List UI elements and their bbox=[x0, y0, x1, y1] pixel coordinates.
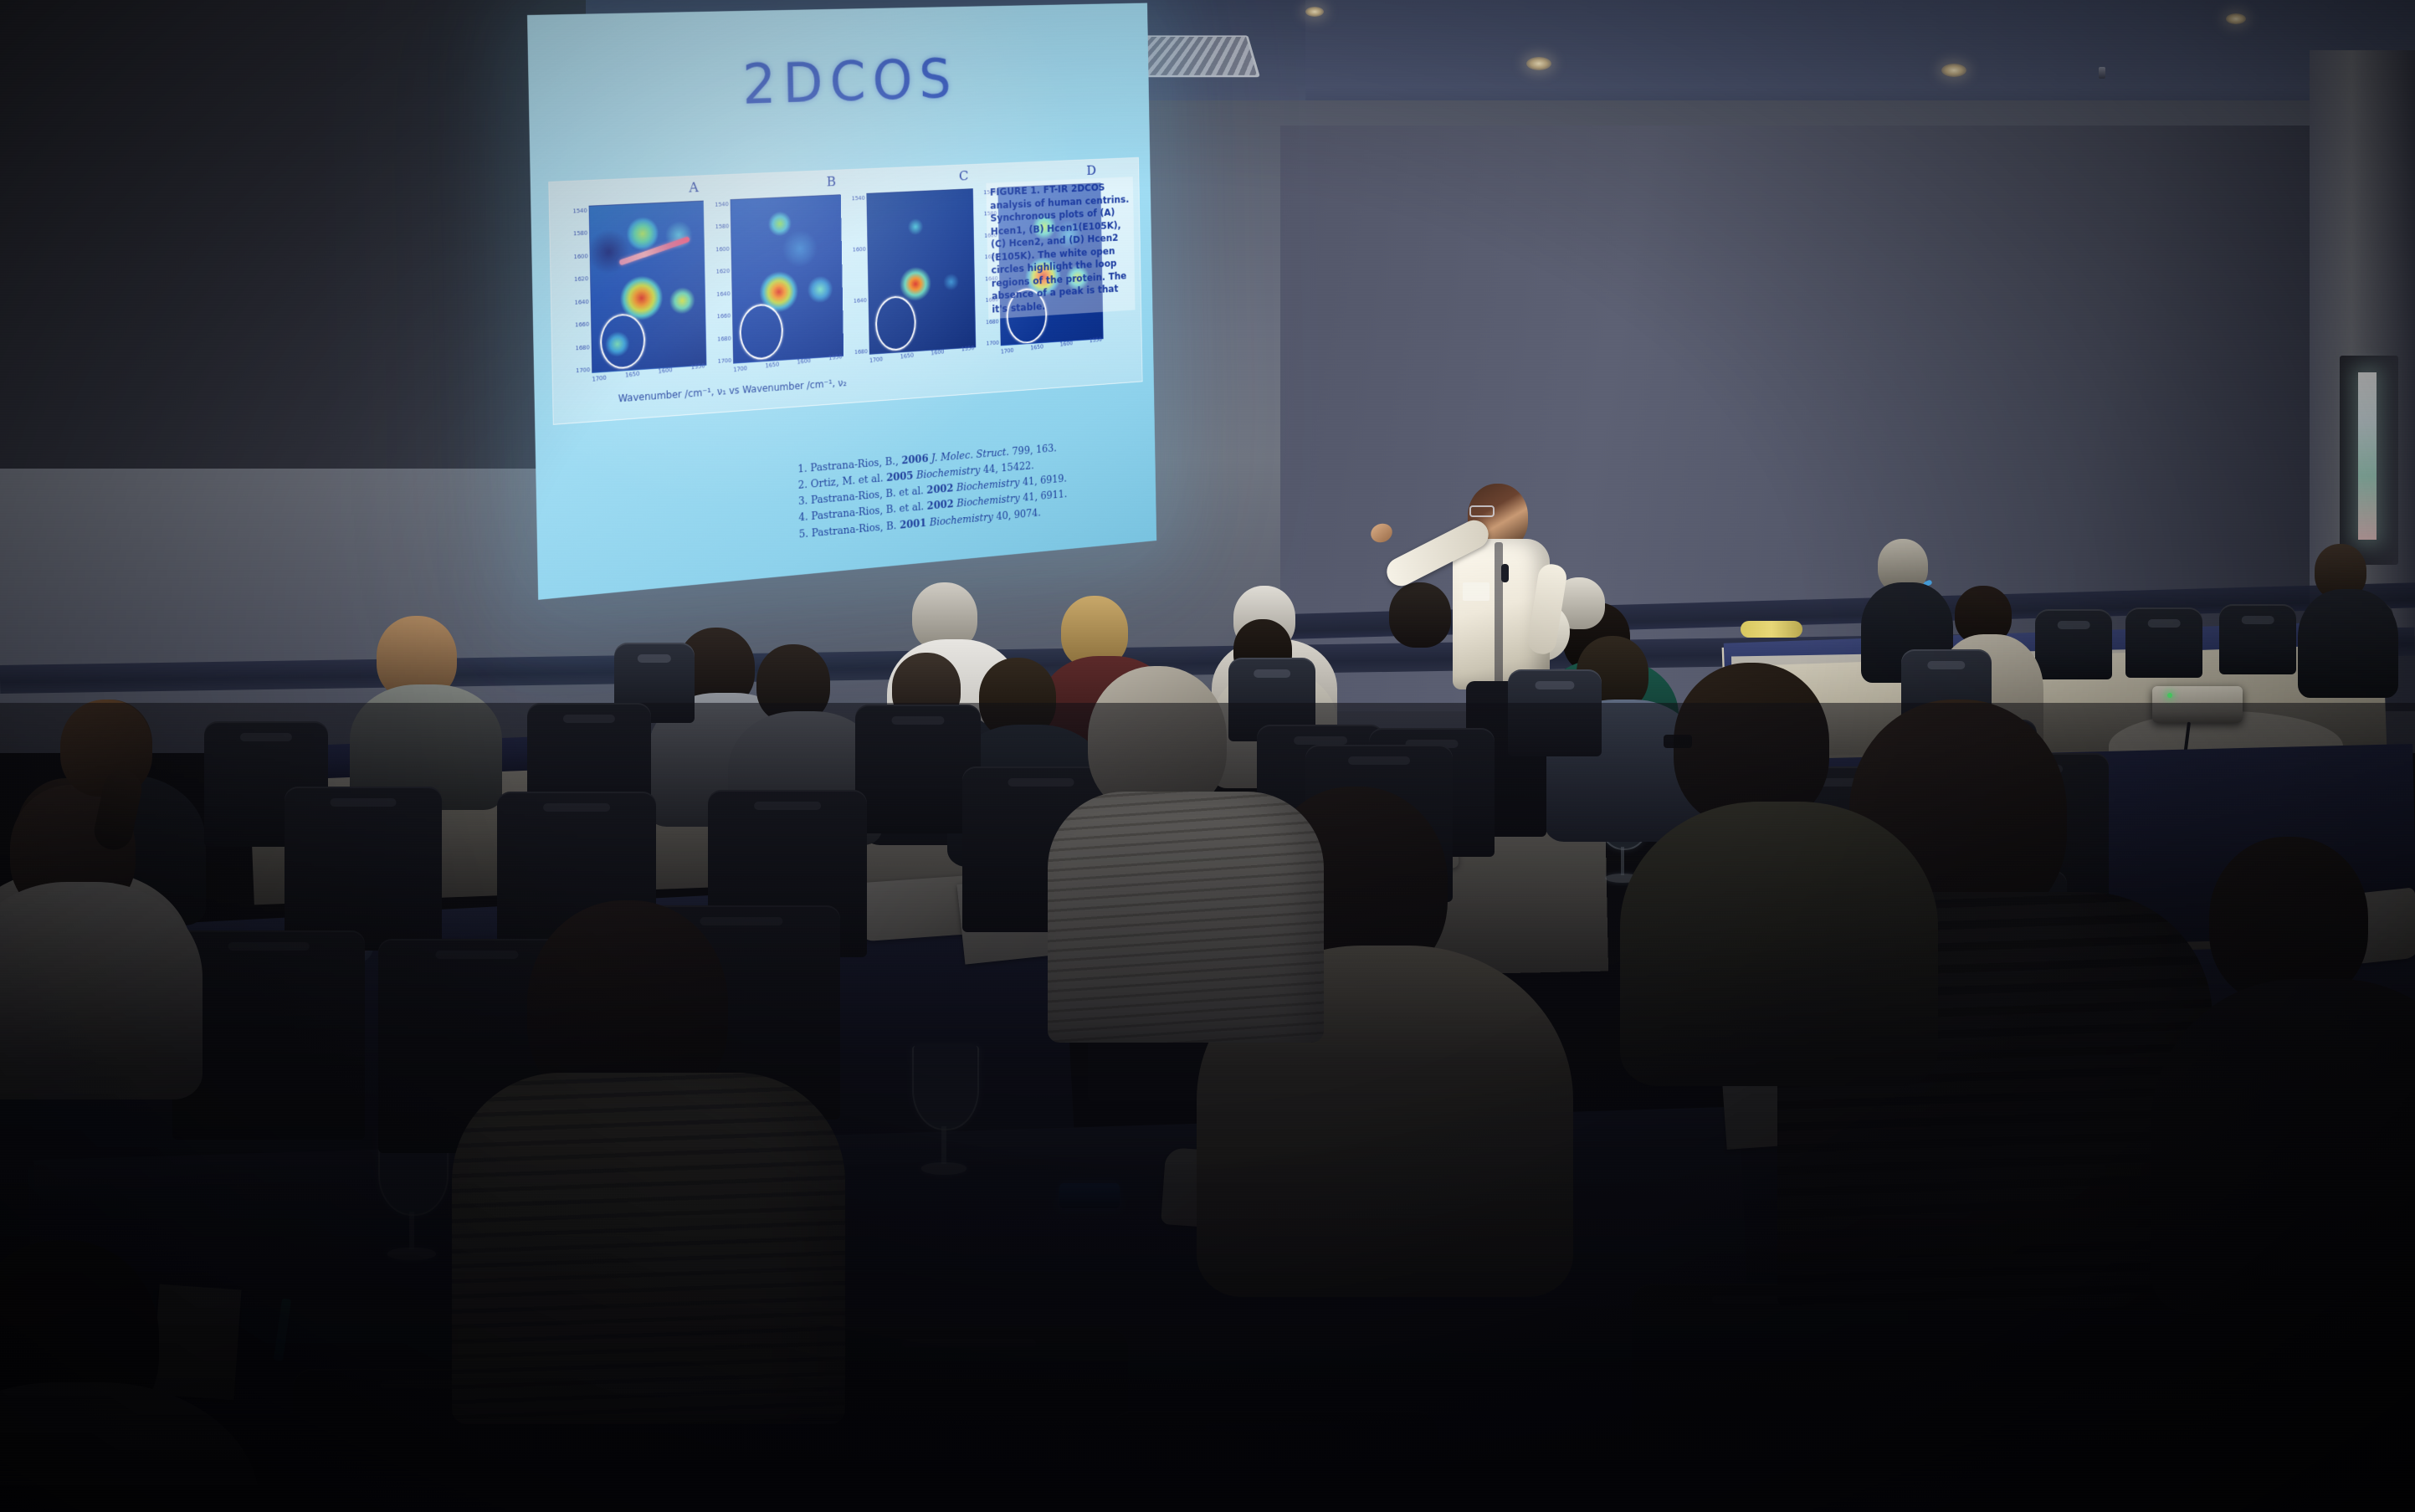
presenter-lapel bbox=[1495, 542, 1503, 684]
chair[interactable] bbox=[2035, 609, 2112, 679]
downlight-icon bbox=[1526, 57, 1551, 70]
y-tick: 1540 bbox=[983, 189, 997, 196]
x-axis-label: Wavenumber /cm⁻¹, ν₁ vs Wavenumber /cm⁻¹… bbox=[618, 377, 847, 405]
ref-volume: 41, 6911. bbox=[1023, 489, 1067, 505]
panel-letter: B bbox=[827, 174, 837, 191]
y-axis-ticks: 1540 1580 1600 1620 1640 1660 1680 1700 bbox=[975, 187, 999, 349]
loop-region-annotation bbox=[600, 313, 646, 370]
ref-year: 2005 bbox=[886, 470, 913, 484]
y-axis-ticks: 1540 1580 1600 1620 1640 1660 1680 1700 bbox=[563, 206, 591, 377]
y-tick: 1640 bbox=[716, 290, 731, 298]
heatmap-plot bbox=[731, 194, 844, 363]
downlight-icon bbox=[1305, 7, 1324, 17]
x-tick: 1600 bbox=[1060, 340, 1074, 347]
ref-authors: Pastrana-Rios, B. bbox=[812, 520, 897, 540]
reference-item: 3. Pastrana-Rios, B. et al. 2002 Biochem… bbox=[798, 472, 1067, 511]
reference-item: 5. Pastrana-Rios, B. 2001 Biochemistry 4… bbox=[799, 503, 1068, 543]
panel-letter: A bbox=[689, 179, 699, 196]
x-tick: 1550 bbox=[961, 345, 975, 352]
y-tick: 1540 bbox=[572, 208, 587, 215]
flower-cluster bbox=[1741, 621, 1802, 638]
conference-room-photo: 2DCOS A 1540 1580 1600 1620 1640 1660 bbox=[0, 0, 2415, 1512]
y-axis-ticks: 1540 1600 1640 1680 bbox=[843, 193, 869, 358]
reference-item: 4. Pastrana-Rios, B. et al. 2002 Biochem… bbox=[798, 487, 1067, 526]
heatmap-plot bbox=[997, 182, 1103, 346]
y-tick: 1640 bbox=[985, 275, 998, 282]
reference-list: 1. Pastrana-Rios, B., 2006 J. Molec. Str… bbox=[797, 440, 1068, 543]
ref-number: 1. bbox=[797, 463, 808, 475]
x-tick: 1700 bbox=[869, 356, 883, 364]
heatmap-plot bbox=[589, 201, 707, 373]
y-tick: 1700 bbox=[986, 340, 999, 347]
x-tick: 1700 bbox=[592, 375, 607, 383]
ref-journal: Biochemistry bbox=[956, 493, 1020, 510]
x-axis-ticks: 1700 1650 1600 1550 bbox=[733, 353, 842, 373]
ref-authors: Pastrana-Rios, B. et al. bbox=[811, 501, 924, 523]
head bbox=[1389, 582, 1451, 648]
trend-arrow-annotation bbox=[618, 236, 690, 266]
loop-region-annotation bbox=[1006, 287, 1047, 344]
x-tick: 1650 bbox=[900, 352, 914, 361]
y-tick: 1700 bbox=[576, 366, 590, 374]
ref-authors: Pastrana-Rios, B. et al. bbox=[811, 485, 924, 507]
ref-authors: Ortiz, M. et al. bbox=[811, 473, 884, 491]
projection-screen: 2DCOS A 1540 1580 1600 1620 1640 1660 bbox=[527, 3, 1156, 600]
y-tick: 1660 bbox=[575, 321, 589, 329]
ref-journal: Biochemistry bbox=[956, 477, 1020, 495]
reference-item: 2. Ortiz, M. et al. 2005 Biochemistry 44… bbox=[798, 456, 1067, 495]
ref-number: 4. bbox=[798, 511, 808, 524]
y-tick: 1540 bbox=[852, 195, 865, 202]
y-tick: 1660 bbox=[717, 313, 731, 320]
chair[interactable] bbox=[2219, 604, 2296, 674]
heatmap-plot bbox=[866, 188, 976, 355]
loop-region-annotation bbox=[739, 303, 783, 361]
ref-year: 2002 bbox=[926, 483, 953, 497]
x-axis-ticks: 1700 1650 1600 1550 bbox=[592, 362, 705, 382]
ref-year: 2001 bbox=[900, 517, 926, 531]
ref-number: 2. bbox=[798, 479, 808, 491]
x-tick: 1650 bbox=[625, 371, 640, 379]
ref-journal: Biochemistry bbox=[916, 464, 981, 482]
ref-year: 2002 bbox=[927, 499, 954, 513]
x-tick: 1650 bbox=[765, 361, 779, 370]
x-tick: 1700 bbox=[733, 365, 747, 373]
ref-authors: Pastrana-Rios, B., bbox=[810, 455, 899, 474]
y-tick: 1580 bbox=[984, 211, 997, 218]
x-tick: 1550 bbox=[1090, 336, 1102, 344]
panel-letter: C bbox=[959, 168, 969, 184]
presenter-microphone-icon bbox=[1501, 564, 1509, 582]
downlight-icon bbox=[2226, 13, 2246, 24]
y-tick: 1620 bbox=[716, 268, 731, 275]
x-tick: 1550 bbox=[690, 362, 705, 371]
heatmap-panel-c: C 1540 1600 1640 1680 1700 1650 bbox=[866, 188, 976, 355]
ref-volume: 44, 15422. bbox=[983, 460, 1034, 476]
y-tick: 1640 bbox=[574, 299, 588, 306]
ref-volume: 41, 6919. bbox=[1023, 473, 1067, 489]
presenter-glasses-icon bbox=[1469, 505, 1495, 517]
chair[interactable] bbox=[2125, 607, 2202, 678]
floor-shadow bbox=[0, 703, 2415, 1512]
torso bbox=[2298, 589, 2398, 698]
y-axis-ticks: 1540 1580 1600 1620 1640 1660 1680 1700 bbox=[705, 199, 732, 366]
y-tick: 1580 bbox=[715, 223, 730, 231]
x-tick: 1550 bbox=[828, 353, 843, 361]
y-tick: 1600 bbox=[853, 246, 866, 253]
x-tick: 1650 bbox=[1030, 344, 1043, 351]
reference-item: 1. Pastrana-Rios, B., 2006 J. Molec. Str… bbox=[797, 440, 1066, 478]
y-tick: 1680 bbox=[717, 335, 731, 342]
sprinkler-icon bbox=[2099, 67, 2105, 79]
y-tick: 1600 bbox=[573, 253, 587, 260]
left-wall-shadow bbox=[0, 0, 586, 469]
y-tick: 1640 bbox=[854, 297, 867, 305]
x-axis-ticks: 1700 1650 1600 1550 bbox=[869, 345, 975, 364]
wall-light-strip bbox=[2358, 372, 2377, 540]
y-tick: 1600 bbox=[984, 232, 997, 238]
ref-number: 3. bbox=[798, 495, 808, 508]
loop-region-annotation bbox=[875, 295, 916, 352]
ref-year: 2006 bbox=[901, 453, 928, 467]
downlight-icon bbox=[1941, 64, 1966, 77]
y-tick: 1680 bbox=[854, 348, 868, 356]
y-tick: 1580 bbox=[573, 230, 587, 238]
ref-number: 5. bbox=[799, 528, 809, 541]
y-tick: 1620 bbox=[985, 254, 998, 260]
x-tick: 1700 bbox=[1001, 347, 1014, 355]
x-tick: 1600 bbox=[658, 366, 672, 375]
heatmap-panel-b: B 1540 1580 1600 1620 1640 1660 1680 170… bbox=[731, 194, 844, 363]
heatmap-panel-row: A 1540 1580 1600 1620 1640 1660 1680 170… bbox=[561, 182, 1104, 375]
y-tick: 1660 bbox=[985, 296, 998, 303]
y-tick: 1680 bbox=[575, 344, 589, 351]
x-axis-ticks: 1700 1650 1600 1550 bbox=[1001, 336, 1102, 355]
panel-letter: D bbox=[1086, 163, 1096, 179]
y-tick: 1600 bbox=[715, 246, 730, 254]
heatmap-panel-d: D 1540 1580 1600 1620 1640 1660 1680 170… bbox=[997, 182, 1103, 346]
ref-journal: Biochemistry bbox=[930, 511, 993, 529]
figure-caption: FIGURE 1. FT-IR 2DCOS analysis of human … bbox=[986, 177, 1135, 319]
y-tick: 1620 bbox=[574, 275, 588, 283]
ref-journal: J. Molec. Struct. bbox=[931, 447, 1009, 465]
projector-led-icon bbox=[2167, 693, 2172, 698]
slide-surface: 2DCOS A 1540 1580 1600 1620 1640 1660 bbox=[527, 3, 1156, 600]
slide-title: 2DCOS bbox=[528, 43, 1149, 125]
ref-volume: 799, 163. bbox=[1012, 443, 1056, 458]
x-tick: 1600 bbox=[797, 357, 811, 366]
x-tick: 1600 bbox=[931, 348, 944, 356]
ref-volume: 40, 9074. bbox=[996, 507, 1041, 523]
y-tick: 1680 bbox=[986, 318, 999, 325]
presenter-badge bbox=[1463, 582, 1490, 601]
y-tick: 1540 bbox=[715, 201, 729, 208]
y-tick: 1700 bbox=[718, 357, 732, 365]
heatmap-panel-a: A 1540 1580 1600 1620 1640 1660 1680 170… bbox=[589, 201, 707, 373]
slide-figure-block: A 1540 1580 1600 1620 1640 1660 1680 170… bbox=[548, 157, 1142, 425]
